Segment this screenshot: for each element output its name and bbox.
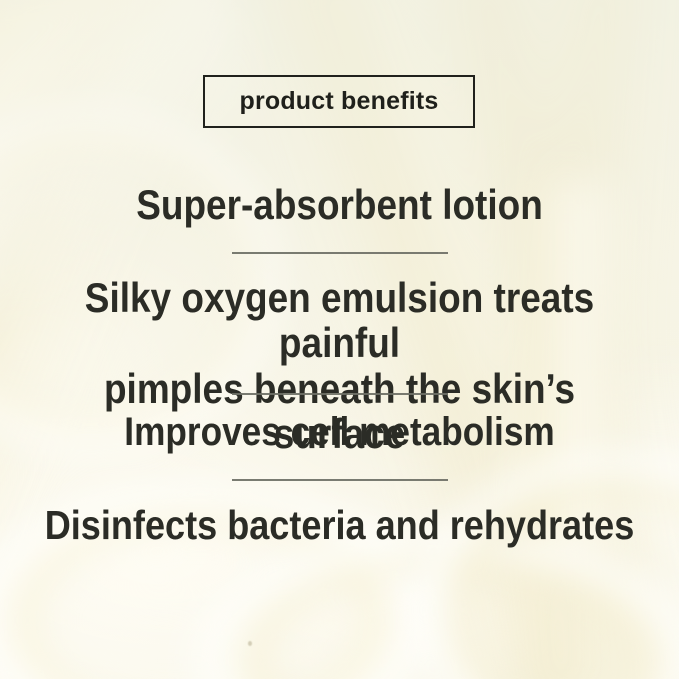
benefit-item-1: Super-absorbent lotion: [41, 182, 639, 227]
benefit-divider-2: [232, 393, 448, 395]
product-benefits-badge: product benefits: [203, 75, 475, 128]
benefit-divider-3: [232, 479, 448, 481]
benefit-item-4: Disinfects bacteria and rehydrates: [41, 503, 639, 547]
product-benefits-poster: product benefits Super-absorbent lotion …: [0, 0, 679, 679]
poster-content: product benefits Super-absorbent lotion …: [0, 0, 679, 679]
product-benefits-badge-label: product benefits: [239, 89, 438, 114]
benefit-divider-1: [232, 252, 448, 254]
benefit-item-3: Improves cell metabolism: [41, 411, 639, 454]
